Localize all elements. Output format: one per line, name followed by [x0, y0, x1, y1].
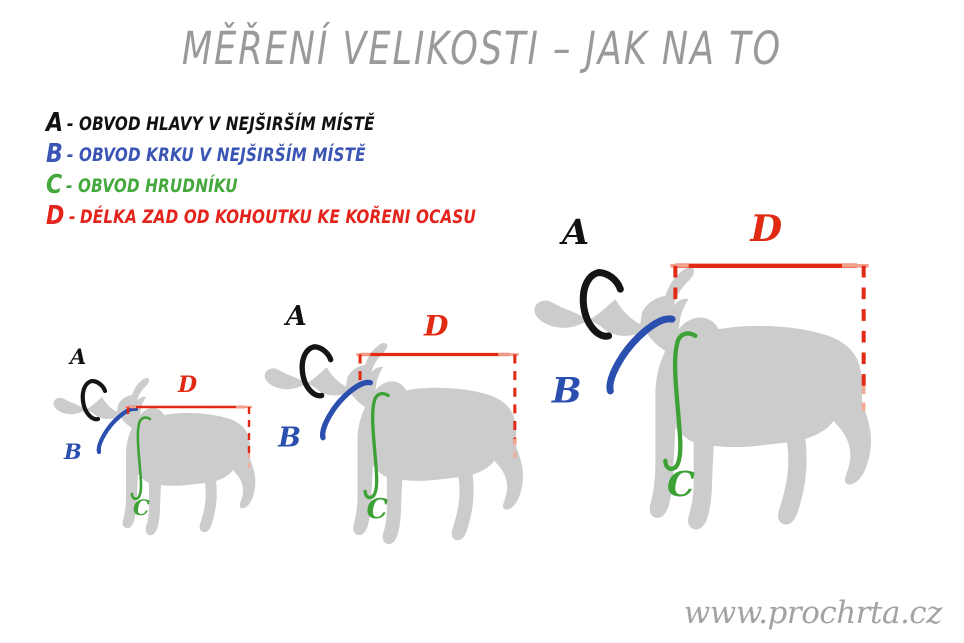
small-dog-label-c: C	[133, 495, 150, 520]
legend-dash-c: -	[65, 171, 76, 202]
legend-dash-b: -	[66, 140, 77, 171]
legend-text-b: OBVOD KRKU V NEJŠIRŠÍM MÍSTĚ	[79, 140, 366, 171]
legend-text-c: OBVOD HRUDNÍKU	[78, 171, 238, 202]
legend-key-d: D	[46, 201, 64, 232]
large-dog-label-a: A	[559, 212, 589, 253]
medium-dog-label-b: B	[277, 423, 301, 454]
large-dog-label-b: B	[551, 371, 582, 412]
legend-item-b: B-OBVOD KRKU V NEJŠIRŠÍM MÍSTĚ	[46, 139, 646, 170]
legend-key-a: A	[46, 108, 63, 139]
legend-dash-a: -	[66, 109, 77, 140]
legend-text-a: OBVOD HLAVY V NEJŠIRŠÍM MÍSTĚ	[79, 109, 375, 140]
medium-dog-label-a: A	[283, 301, 307, 332]
legend-key-b: B	[46, 139, 63, 170]
site-watermark: www.prochrta.cz	[684, 595, 942, 631]
page-title: MĚŘENÍ VELIKOSTI – JAK NA TO	[106, 22, 858, 75]
medium-dog-figure: A B C D	[246, 288, 556, 563]
legend-key-c: C	[46, 170, 62, 201]
legend-dash-d: -	[68, 202, 79, 233]
large-dog-figure: A B C D	[512, 190, 912, 560]
large-dog-label-c: C	[667, 464, 695, 505]
legend-item-a: A-OBVOD HLAVY V NEJŠIRŠÍM MÍSTĚ	[46, 108, 646, 139]
small-dog-figure: A B C D	[40, 335, 280, 550]
medium-dog-label-d: D	[423, 309, 449, 342]
large-dog-label-d: D	[749, 207, 782, 250]
small-dog-label-a: A	[68, 344, 86, 369]
small-dog-label-d: D	[177, 372, 197, 398]
legend-text-d: DÉLKA ZAD OD KOHOUTKU KE KOŘENI OCASU	[80, 202, 476, 233]
medium-dog-label-c: C	[366, 494, 388, 525]
infographic-page: MĚŘENÍ VELIKOSTI – JAK NA TO A-OBVOD HLA…	[0, 0, 964, 643]
small-dog-label-b: B	[63, 439, 82, 464]
